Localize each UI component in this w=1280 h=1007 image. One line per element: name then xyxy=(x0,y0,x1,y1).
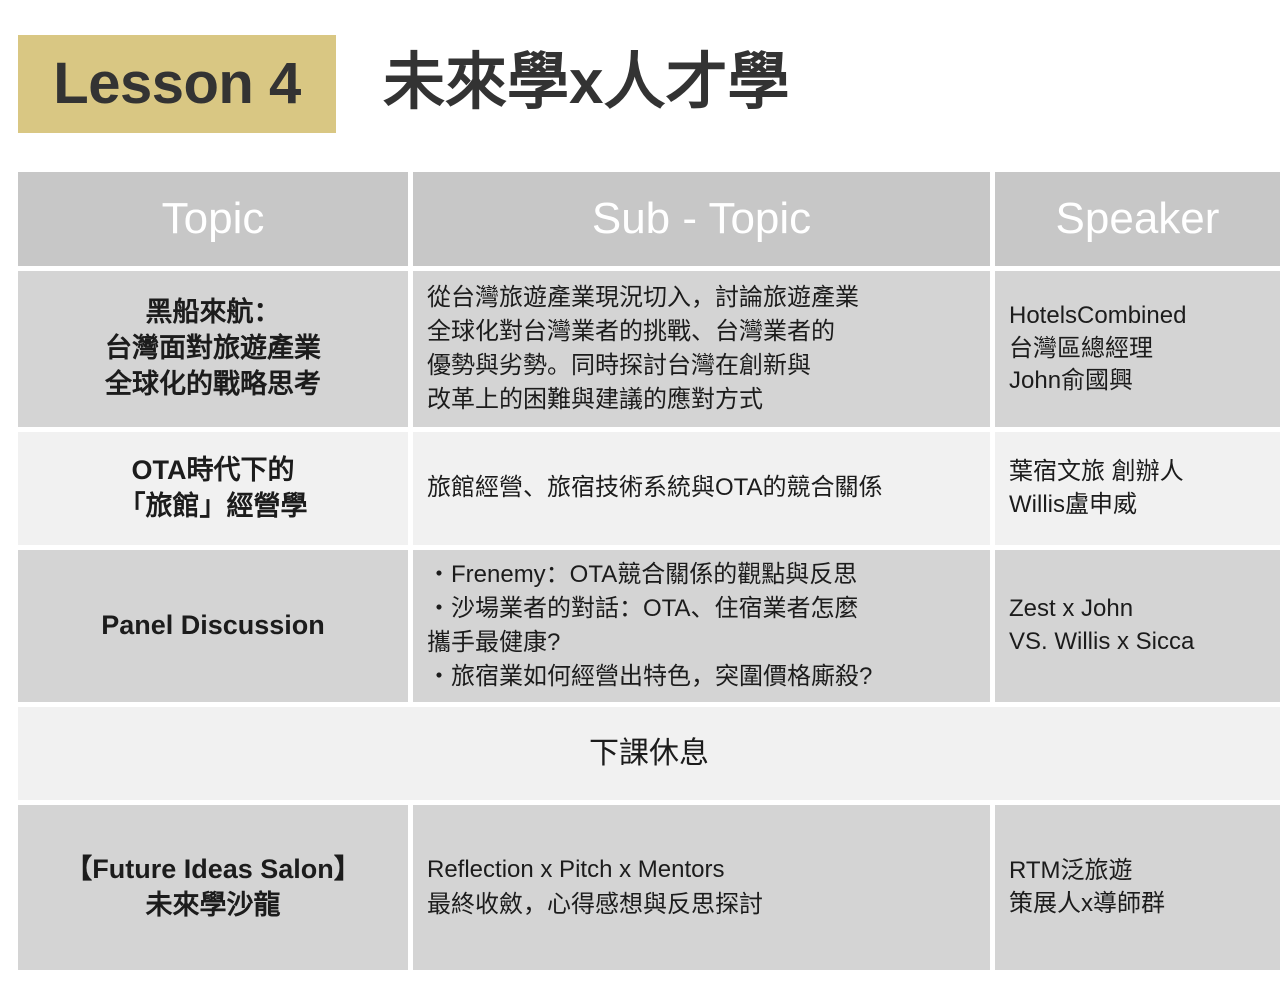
row-sub-topic-text: Reflection x Pitch x Mentors 最終收斂，心得感想與反… xyxy=(427,853,976,921)
row-topic-text: 【Future Ideas Salon】 未來學沙龍 xyxy=(32,852,394,924)
row-sub-topic-text: ・Frenemy：OTA競合關係的觀點與反思 ・沙場業者的對話：OTA、住宿業者… xyxy=(427,558,976,694)
page-title: 未來學x人才學 xyxy=(383,44,789,122)
column-header-sub-topic-label: Sub - Topic xyxy=(592,197,811,241)
table-header-row: Topic Sub - Topic Speaker xyxy=(18,172,1280,266)
slide-header: Lesson 4 未來學x人才學 xyxy=(0,0,1280,160)
lesson-badge-label: Lesson 4 xyxy=(53,55,300,113)
row-sub-topic-cell: ・Frenemy：OTA競合關係的觀點與反思 ・沙場業者的對話：OTA、住宿業者… xyxy=(413,550,990,702)
row-speaker-text: Zest x John VS. Willis x Sicca xyxy=(1009,593,1266,659)
row-speaker-cell: RTM泛旅遊 策展人x導師群 xyxy=(995,805,1280,970)
column-header-topic: Topic xyxy=(18,172,408,266)
lesson-badge: Lesson 4 xyxy=(18,35,336,133)
break-row: 下課休息 xyxy=(18,707,1280,800)
row-topic-cell: OTA時代下的 「旅館」經營學 xyxy=(18,432,408,545)
column-header-speaker: Speaker xyxy=(995,172,1280,266)
table-row: OTA時代下的 「旅館」經營學 旅館經營、旅宿技術系統與OTA的競合關係 葉宿文… xyxy=(18,432,1280,545)
schedule-table: Topic Sub - Topic Speaker 黑船來航： 台灣面對旅遊產業… xyxy=(18,172,1280,975)
column-header-sub-topic: Sub - Topic xyxy=(413,172,990,266)
row-speaker-text: 葉宿文旅 創辦人 Willis盧申威 xyxy=(1009,456,1266,522)
column-header-speaker-label: Speaker xyxy=(1056,197,1220,241)
row-topic-cell: 【Future Ideas Salon】 未來學沙龍 xyxy=(18,805,408,970)
row-speaker-text: RTM泛旅遊 策展人x導師群 xyxy=(1009,855,1266,921)
break-label: 下課休息 xyxy=(589,734,709,773)
table-row: 【Future Ideas Salon】 未來學沙龍 Reflection x … xyxy=(18,805,1280,970)
table-row: 黑船來航： 台灣面對旅遊產業 全球化的戰略思考 從台灣旅遊產業現況切入，討論旅遊… xyxy=(18,271,1280,427)
row-topic-text: Panel Discussion xyxy=(32,608,394,644)
row-sub-topic-text: 旅館經營、旅宿技術系統與OTA的競合關係 xyxy=(427,471,976,505)
row-sub-topic-cell: 旅館經營、旅宿技術系統與OTA的競合關係 xyxy=(413,432,990,545)
row-speaker-text: HotelsCombined 台灣區總經理 John俞國興 xyxy=(1009,300,1266,399)
row-sub-topic-cell: 從台灣旅遊產業現況切入，討論旅遊產業 全球化對台灣業者的挑戰、台灣業者的 優勢與… xyxy=(413,271,990,427)
row-speaker-cell: Zest x John VS. Willis x Sicca xyxy=(995,550,1280,702)
row-sub-topic-cell: Reflection x Pitch x Mentors 最終收斂，心得感想與反… xyxy=(413,805,990,970)
break-cell: 下課休息 xyxy=(18,707,1280,800)
table-row: Panel Discussion ・Frenemy：OTA競合關係的觀點與反思 … xyxy=(18,550,1280,702)
column-header-topic-label: Topic xyxy=(162,197,265,241)
row-speaker-cell: HotelsCombined 台灣區總經理 John俞國興 xyxy=(995,271,1280,427)
row-topic-cell: Panel Discussion xyxy=(18,550,408,702)
row-speaker-cell: 葉宿文旅 創辦人 Willis盧申威 xyxy=(995,432,1280,545)
row-sub-topic-text: 從台灣旅遊產業現況切入，討論旅遊產業 全球化對台灣業者的挑戰、台灣業者的 優勢與… xyxy=(427,281,976,417)
row-topic-text: 黑船來航： 台灣面對旅遊產業 全球化的戰略思考 xyxy=(32,295,394,403)
row-topic-text: OTA時代下的 「旅館」經營學 xyxy=(32,453,394,525)
row-topic-cell: 黑船來航： 台灣面對旅遊產業 全球化的戰略思考 xyxy=(18,271,408,427)
